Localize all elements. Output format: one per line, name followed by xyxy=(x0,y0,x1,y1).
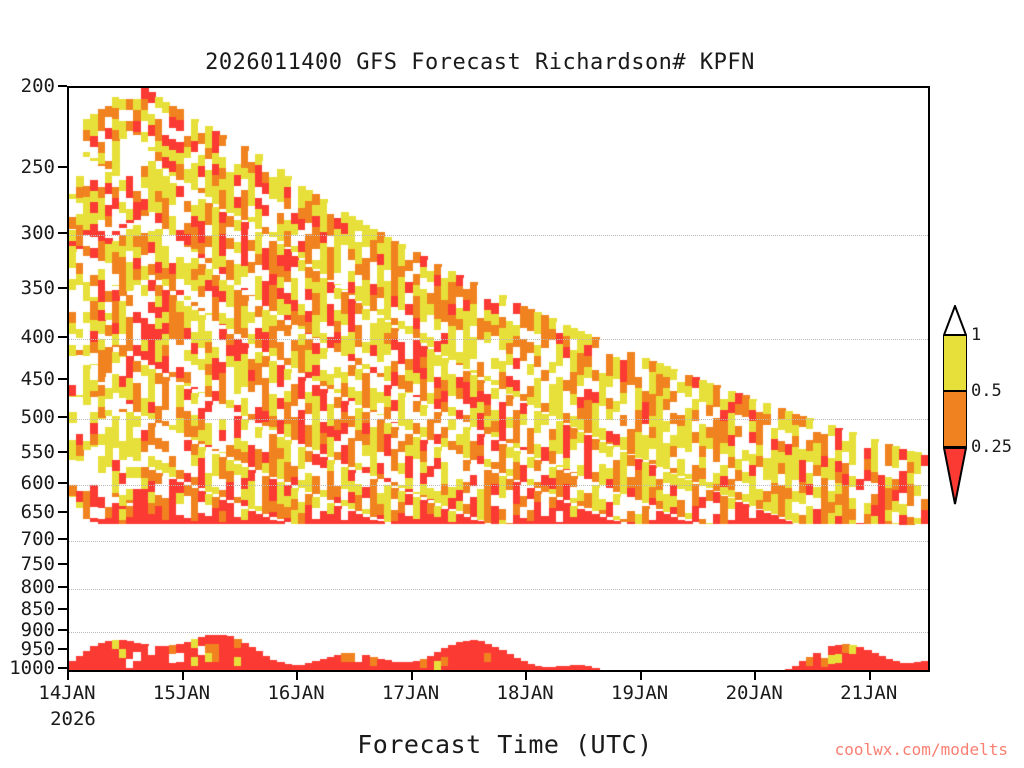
x-tick-mark xyxy=(296,672,298,680)
y-tick-mark xyxy=(58,608,67,610)
heatmap-canvas xyxy=(69,88,928,670)
y-tick-label: 300 xyxy=(21,222,55,244)
colorbar-tick-label: 0.25 xyxy=(971,437,1012,457)
x-tick-label: 14JAN xyxy=(38,682,95,704)
x-tick-label: 15JAN xyxy=(153,682,210,704)
x-tick-mark xyxy=(411,672,413,680)
colorbar-under-arrow xyxy=(943,447,967,505)
y-tick-mark xyxy=(58,511,67,513)
x-axis: 14JAN15JAN16JAN17JAN18JAN19JAN20JAN21JAN… xyxy=(0,672,1024,732)
colorbar-over-arrow xyxy=(943,305,967,335)
y-tick-label: 550 xyxy=(21,441,55,463)
colorbar-band xyxy=(943,335,967,391)
x-tick-mark xyxy=(754,672,756,680)
x-tick-label: 21JAN xyxy=(840,682,897,704)
y-tick-mark xyxy=(58,586,67,588)
y-tick-label: 250 xyxy=(21,156,55,178)
x-tick-label: 17JAN xyxy=(382,682,439,704)
colorbar-legend: 10.50.25 xyxy=(943,305,967,480)
colorbar-tick-label: 0.5 xyxy=(971,381,1002,401)
y-tick-label: 850 xyxy=(21,598,55,620)
x-tick-label: 19JAN xyxy=(611,682,668,704)
y-tick-mark xyxy=(58,232,67,234)
x-tick-mark xyxy=(525,672,527,680)
y-tick-mark xyxy=(58,629,67,631)
y-tick-mark xyxy=(58,451,67,453)
y-tick-label: 200 xyxy=(21,75,55,97)
y-tick-mark xyxy=(58,336,67,338)
y-tick-mark xyxy=(58,378,67,380)
x-axis-year-label: 2026 xyxy=(50,708,96,730)
x-tick-label: 16JAN xyxy=(267,682,324,704)
x-tick-label: 18JAN xyxy=(497,682,554,704)
y-axis: 2002503003504004505005506006507007508008… xyxy=(0,86,67,672)
y-tick-mark xyxy=(58,287,67,289)
x-tick-label: 20JAN xyxy=(726,682,783,704)
y-tick-mark xyxy=(58,538,67,540)
y-tick-label: 350 xyxy=(21,277,55,299)
y-tick-label: 600 xyxy=(21,472,55,494)
plot-area xyxy=(67,86,930,672)
y-tick-mark xyxy=(58,166,67,168)
colorbar-tick-label: 1 xyxy=(971,325,981,345)
y-tick-label: 800 xyxy=(21,576,55,598)
x-tick-mark xyxy=(67,672,69,680)
watermark: coolwx.com/modelts xyxy=(835,740,1008,759)
y-tick-label: 650 xyxy=(21,501,55,523)
colorbar-band xyxy=(943,391,967,447)
chart-title: 2026011400 GFS Forecast Richardson# KPFN xyxy=(0,50,960,75)
y-tick-mark xyxy=(58,416,67,418)
x-tick-mark xyxy=(869,672,871,680)
y-tick-mark xyxy=(58,667,67,669)
y-tick-label: 400 xyxy=(21,326,55,348)
y-tick-label: 750 xyxy=(21,553,55,575)
richardson-number-cross-section-chart: 2026011400 GFS Forecast Richardson# KPFN… xyxy=(0,0,1024,768)
y-tick-mark xyxy=(58,648,67,650)
y-tick-label: 450 xyxy=(21,368,55,390)
y-tick-label: 500 xyxy=(21,406,55,428)
y-tick-label: 700 xyxy=(21,528,55,550)
x-tick-mark xyxy=(182,672,184,680)
y-tick-mark xyxy=(58,85,67,87)
y-tick-mark xyxy=(58,563,67,565)
y-tick-mark xyxy=(58,482,67,484)
x-tick-mark xyxy=(640,672,642,680)
